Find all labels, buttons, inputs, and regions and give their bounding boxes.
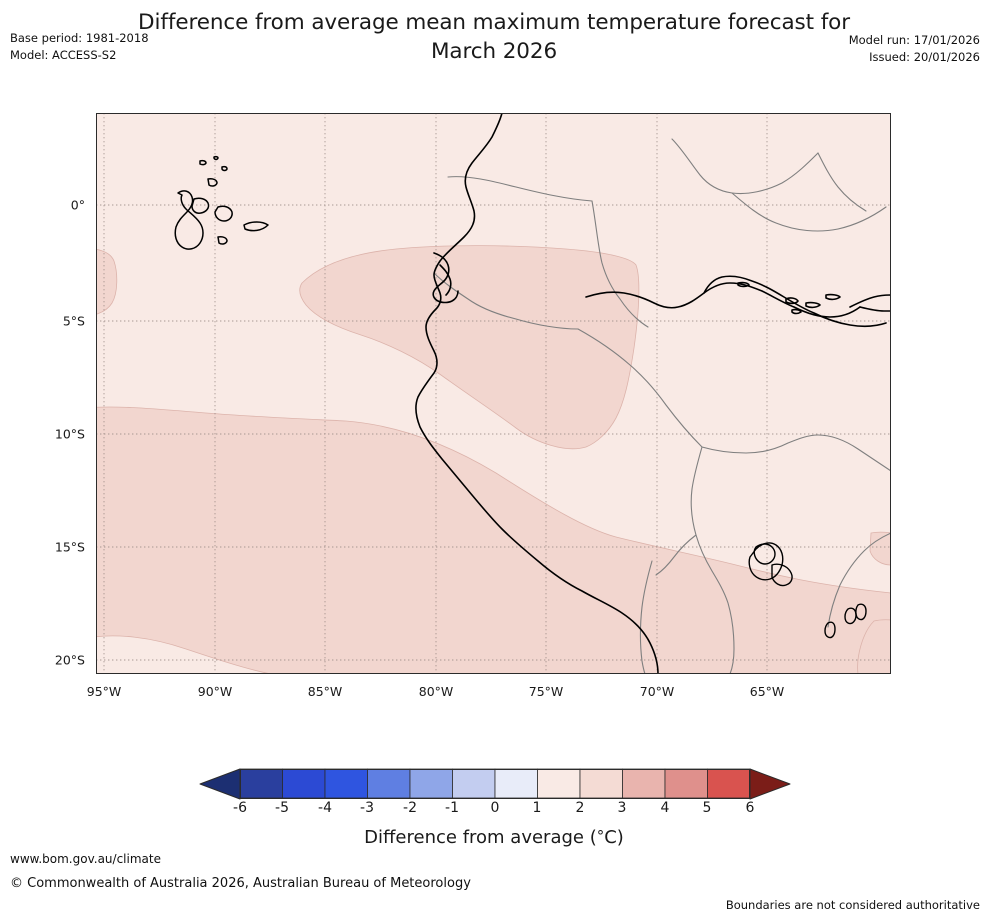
- cbtick-4: 4: [661, 800, 670, 816]
- cbtick-2: 2: [576, 800, 585, 816]
- colorbar-swatch-4: [410, 769, 453, 798]
- xtick-label-70W: 70°W: [640, 684, 675, 699]
- ytick-label-20S: 20°S: [55, 653, 85, 668]
- title-line-1: Difference from average mean maximum tem…: [0, 8, 988, 37]
- ytick-label-5S: 5°S: [63, 314, 85, 329]
- colorbar-swatch-6: [495, 769, 538, 798]
- cbtick--3: -3: [360, 800, 374, 816]
- colorbar-swatch-11: [708, 769, 751, 798]
- cbtick--4: -4: [318, 800, 332, 816]
- xtick-label-80W: 80°W: [419, 684, 454, 699]
- colorbar-swatch-7: [538, 769, 581, 798]
- colorbar-title: Difference from average (°C): [0, 827, 988, 848]
- cbtick--6: -6: [233, 800, 247, 816]
- colorbar-swatch-8: [580, 769, 623, 798]
- colorbar-swatch-2: [325, 769, 368, 798]
- colorbar-swatch-1: [283, 769, 326, 798]
- title-line-2: March 2026: [0, 37, 988, 66]
- colorbar-swatches: [240, 769, 750, 798]
- colorbar-swatch-0: [240, 769, 283, 798]
- colorbar-swatch-9: [623, 769, 666, 798]
- colorbar-title-tail: C): [604, 827, 624, 848]
- xtick-label-85W: 85°W: [308, 684, 343, 699]
- cbtick-1: 1: [533, 800, 542, 816]
- colorbar-swatch-5: [453, 769, 496, 798]
- xtick-label-90W: 90°W: [198, 684, 233, 699]
- colorbar-title-text: Difference from average (: [364, 827, 597, 848]
- boundaries-disclaimer: Boundaries are not considered authoritat…: [726, 898, 980, 912]
- cbtick--2: -2: [403, 800, 417, 816]
- cbtick--1: -1: [445, 800, 459, 816]
- colorbar: [190, 768, 800, 800]
- copyright-text: © Commonwealth of Australia 2026, Austra…: [10, 876, 471, 891]
- cbtick-6: 6: [746, 800, 755, 816]
- xtick-label-75W: 75°W: [529, 684, 564, 699]
- colorbar-over-arrow: [750, 769, 790, 799]
- colorbar-under-arrow: [200, 769, 240, 799]
- xtick-label-95W: 95°W: [87, 684, 122, 699]
- cbtick-0: 0: [491, 800, 500, 816]
- cbtick-5: 5: [703, 800, 712, 816]
- ytick-label-10S: 10°S: [55, 427, 85, 442]
- colorbar-swatch-3: [368, 769, 411, 798]
- bom-website-link[interactable]: www.bom.gov.au/climate: [10, 852, 161, 866]
- page-title: Difference from average mean maximum tem…: [0, 8, 988, 66]
- cbtick-3: 3: [618, 800, 627, 816]
- colorbar-swatch-10: [665, 769, 708, 798]
- anomaly-map: [96, 113, 891, 674]
- ytick-label-0: 0°: [71, 198, 85, 213]
- ytick-label-15S: 15°S: [55, 540, 85, 555]
- cbtick--5: -5: [275, 800, 289, 816]
- xtick-label-65W: 65°W: [750, 684, 785, 699]
